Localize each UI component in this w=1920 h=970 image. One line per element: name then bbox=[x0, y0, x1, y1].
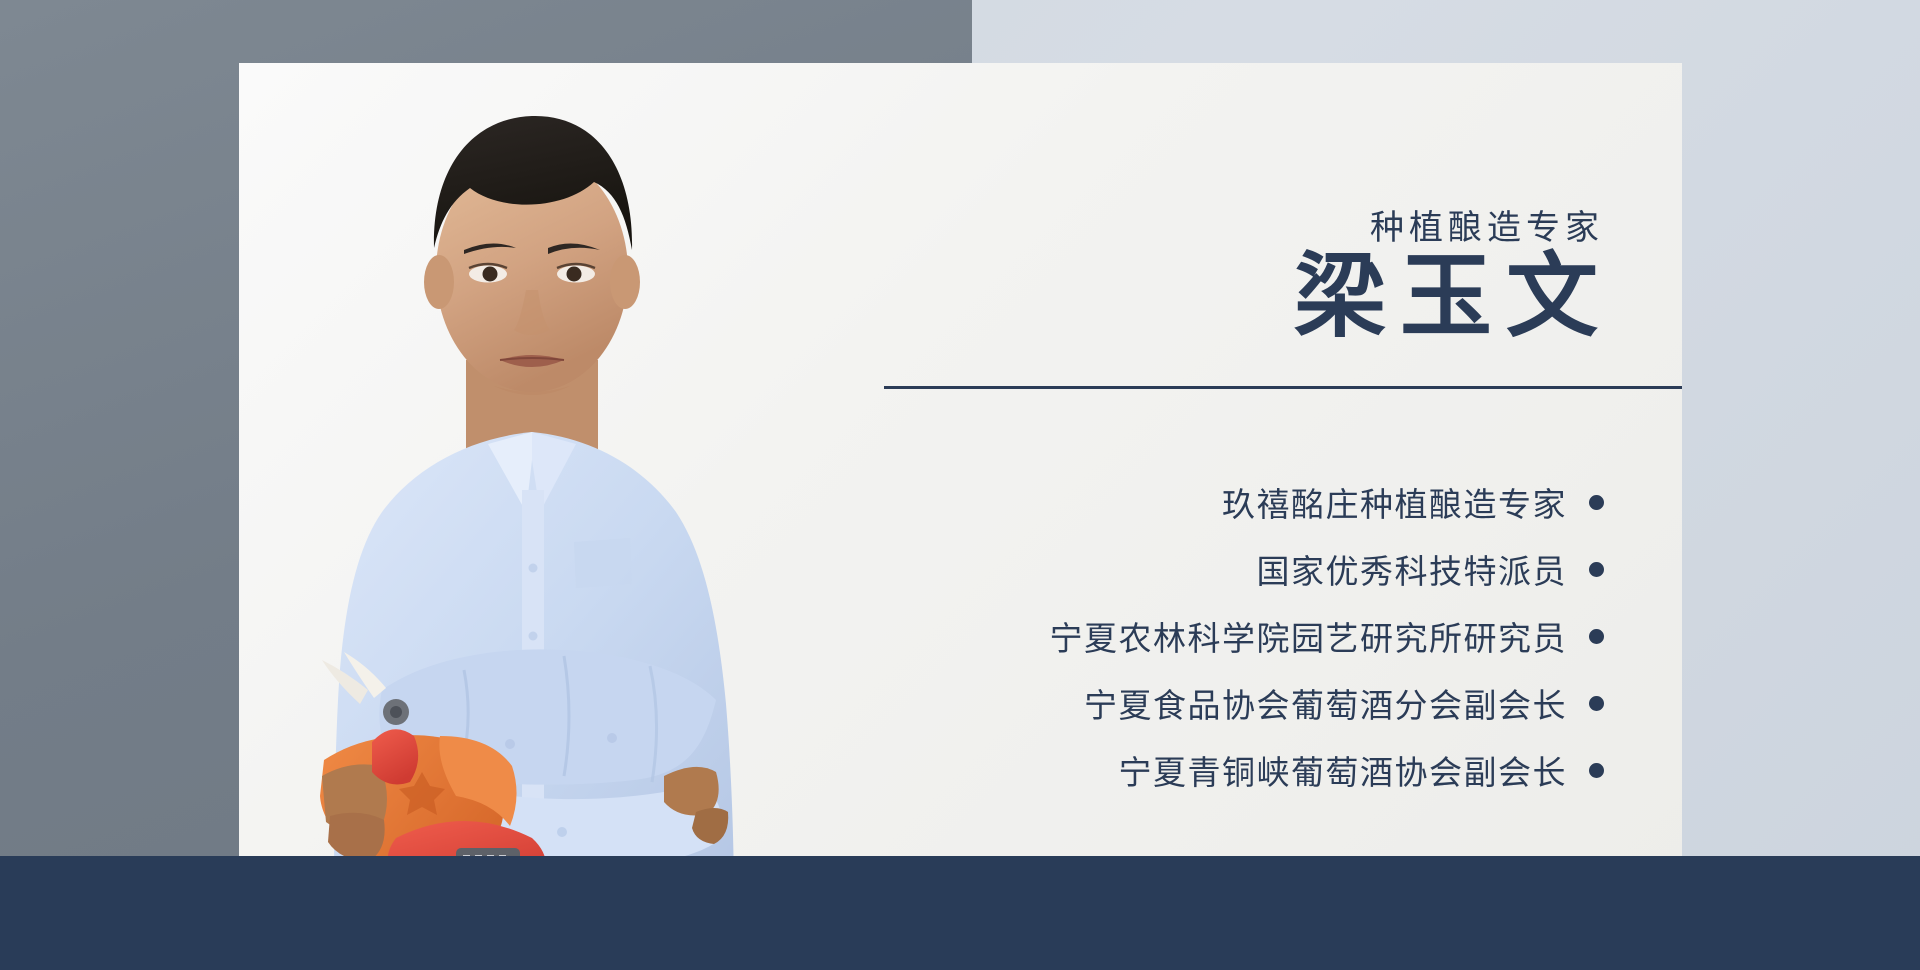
bullet-icon bbox=[1589, 562, 1604, 577]
bullet-icon bbox=[1589, 696, 1604, 711]
divider-line bbox=[884, 386, 1682, 389]
list-item: 宁夏农林科学院园艺研究所研究员 bbox=[904, 609, 1604, 663]
expert-name: 梁玉文 bbox=[1294, 249, 1612, 346]
list-item: 玖禧酩庄种植酿造专家 bbox=[904, 475, 1604, 529]
banner-canvas: 种植酿造专家 梁玉文 玖禧酩庄种植酿造专家 国家优秀科技特派员 宁夏农林科学院园… bbox=[0, 0, 1920, 970]
bullet-icon bbox=[1589, 629, 1604, 644]
expert-portrait-photo bbox=[264, 63, 864, 905]
background-navy-bottom-band bbox=[0, 856, 1920, 970]
credential-label: 国家优秀科技特派员 bbox=[1257, 545, 1568, 593]
credential-label: 宁夏食品协会葡萄酒分会副会长 bbox=[1084, 679, 1567, 727]
list-item: 宁夏食品协会葡萄酒分会副会长 bbox=[904, 676, 1604, 730]
credential-label: 宁夏青铜峡葡萄酒协会副会长 bbox=[1119, 746, 1568, 794]
divider bbox=[884, 381, 1682, 395]
credentials-list: 玖禧酩庄种植酿造专家 国家优秀科技特派员 宁夏农林科学院园艺研究所研究员 宁夏食… bbox=[904, 475, 1604, 810]
credential-label: 宁夏农林科学院园艺研究所研究员 bbox=[1050, 612, 1568, 660]
profile-text-block: 种植酿造专家 梁玉文 玖禧酩庄种植酿造专家 国家优秀科技特派员 宁夏农林科学院园… bbox=[879, 63, 1682, 905]
profile-card: 种植酿造专家 梁玉文 玖禧酩庄种植酿造专家 国家优秀科技特派员 宁夏农林科学院园… bbox=[239, 63, 1682, 905]
bullet-icon bbox=[1589, 763, 1604, 778]
list-item: 宁夏青铜峡葡萄酒协会副会长 bbox=[904, 743, 1604, 797]
credential-label: 玖禧酩庄种植酿造专家 bbox=[1222, 478, 1567, 526]
list-item: 国家优秀科技特派员 bbox=[904, 542, 1604, 596]
profile-subtitle: 种植酿造专家 bbox=[1370, 200, 1604, 249]
bullet-icon bbox=[1589, 495, 1604, 510]
